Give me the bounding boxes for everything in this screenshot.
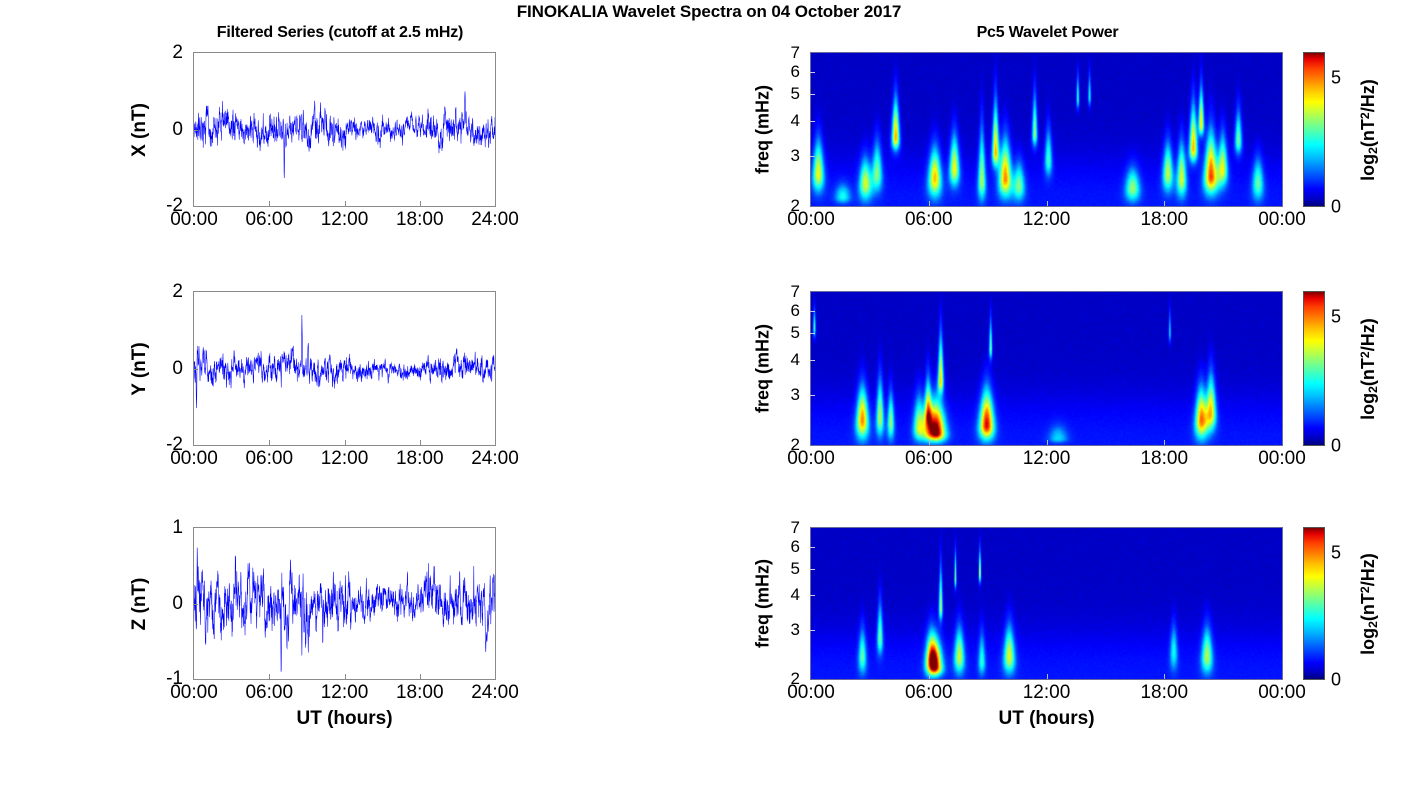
- y-series-ytick: 2: [149, 281, 183, 303]
- z-wavelet-xtick: 06:00: [905, 682, 953, 704]
- figure-suptitle: FINOKALIA Wavelet Spectra on 04 October …: [0, 2, 1418, 22]
- x-series-xtick: 06:00: [245, 209, 293, 231]
- x-wavelet-xtick: 00:00: [1258, 209, 1306, 231]
- x-series-axes: [193, 52, 496, 207]
- colorbar-tick: 0: [1331, 197, 1341, 218]
- y-wavelet-xtick: 18:00: [1140, 448, 1188, 470]
- x-series-ylabel: X (nT): [129, 55, 151, 205]
- y-series-xtickmark: [420, 440, 421, 445]
- y-wavelet-freq-label: freq (mHz): [753, 293, 774, 443]
- z-wavelet-freqtickmark: [810, 547, 815, 548]
- x-wavelet-xtickmark: [1047, 201, 1048, 206]
- x-series-xtick: 18:00: [396, 209, 444, 231]
- y-series-ylabel: Y (nT): [129, 294, 151, 444]
- y-wavelet-xtick: 12:00: [1023, 448, 1071, 470]
- y-wavelet-xtick: 00:00: [787, 448, 835, 470]
- x-wavelet-freqtickmark: [810, 121, 815, 122]
- x-wavelet-xtick: 12:00: [1023, 209, 1071, 231]
- x-series-trace: [194, 53, 495, 206]
- colorbar-x: [1303, 52, 1325, 207]
- y-wavelet-heatmap: [811, 292, 1282, 445]
- z-series-xtick: 06:00: [245, 682, 293, 704]
- x-wavelet-xtickmark: [929, 201, 930, 206]
- colorbar-tick: 5: [1331, 542, 1341, 563]
- z-series-ylabel: Z (nT): [129, 529, 151, 679]
- y-series-trace: [194, 292, 495, 445]
- z-wavelet-xlabel: UT (hours): [998, 708, 1094, 730]
- x-wavelet-xtick: 00:00: [787, 209, 835, 231]
- y-wavelet-xtickmark: [929, 440, 930, 445]
- y-series-ytick: 0: [149, 358, 183, 380]
- z-wavelet-xtick: 12:00: [1023, 682, 1071, 704]
- colorbar-z: [1303, 527, 1325, 680]
- y-wavelet-xtick: 00:00: [1258, 448, 1306, 470]
- y-series-xtick: 24:00: [471, 448, 519, 470]
- y-series-xtick: 18:00: [396, 448, 444, 470]
- z-wavelet-xtick: 18:00: [1140, 682, 1188, 704]
- z-wavelet-xtickmark: [1047, 674, 1048, 679]
- colorbar-tick: 0: [1331, 670, 1341, 691]
- y-wavelet-freqtickmark: [810, 333, 815, 334]
- left-column-title: Filtered Series (cutoff at 2.5 mHz): [160, 24, 520, 42]
- z-wavelet-axes: [810, 527, 1283, 680]
- z-wavelet-xtickmark: [1164, 674, 1165, 679]
- x-series-xtick: 00:00: [170, 209, 218, 231]
- colorbar-tick: 5: [1331, 67, 1341, 88]
- z-series-ytick: 0: [149, 593, 183, 615]
- z-wavelet-xtick: 00:00: [1258, 682, 1306, 704]
- colorbar-label: log2(nT2/Hz): [1358, 294, 1380, 444]
- x-series-ytick: 2: [149, 42, 183, 64]
- x-series-xtick: 24:00: [471, 209, 519, 231]
- z-wavelet-heatmap: [811, 528, 1282, 679]
- z-series-xlabel: UT (hours): [296, 708, 392, 730]
- y-series-ytickmark: [193, 369, 198, 370]
- z-wavelet-freqtickmark: [810, 630, 815, 631]
- x-wavelet-freqtickmark: [810, 156, 815, 157]
- y-series-xtick: 00:00: [170, 448, 218, 470]
- x-series-xtickmark: [345, 201, 346, 206]
- y-series-xtickmark: [345, 440, 346, 445]
- z-series-xtickmark: [345, 674, 346, 679]
- z-wavelet-xtickmark: [929, 674, 930, 679]
- z-series-xtick: 18:00: [396, 682, 444, 704]
- y-series-xtick: 12:00: [321, 448, 369, 470]
- y-wavelet-axes: [810, 291, 1283, 446]
- colorbar-tick: 0: [1331, 436, 1341, 457]
- figure-canvas: FINOKALIA Wavelet Spectra on 04 October …: [0, 0, 1418, 788]
- y-series-xtick: 06:00: [245, 448, 293, 470]
- x-series-xtick: 12:00: [321, 209, 369, 231]
- x-series-xtickmark: [269, 201, 270, 206]
- z-series-axes: [193, 527, 496, 680]
- y-wavelet-freqtickmark: [810, 360, 815, 361]
- y-wavelet-xtick: 06:00: [905, 448, 953, 470]
- colorbar-label: log2(nT2/Hz): [1358, 529, 1380, 679]
- z-series-trace: [194, 528, 495, 679]
- x-series-ytick: 0: [149, 119, 183, 141]
- z-series-xtick: 00:00: [170, 682, 218, 704]
- y-series-axes: [193, 291, 496, 446]
- x-wavelet-xtick: 18:00: [1140, 209, 1188, 231]
- y-wavelet-freqtickmark: [810, 311, 815, 312]
- x-wavelet-heatmap: [811, 53, 1282, 206]
- z-series-ytickmark: [193, 604, 198, 605]
- z-wavelet-freqtickmark: [810, 569, 815, 570]
- x-wavelet-freqtickmark: [810, 72, 815, 73]
- x-wavelet-freq-label: freq (mHz): [753, 54, 774, 204]
- z-wavelet-xtick: 00:00: [787, 682, 835, 704]
- y-wavelet-xtickmark: [1047, 440, 1048, 445]
- x-series-ytickmark: [193, 130, 198, 131]
- colorbar-tick: 5: [1331, 306, 1341, 327]
- x-wavelet-freqtickmark: [810, 94, 815, 95]
- y-wavelet-freqtickmark: [810, 395, 815, 396]
- y-series-xtickmark: [269, 440, 270, 445]
- colorbar-label: log2(nT2/Hz): [1358, 55, 1380, 205]
- z-series-xtickmark: [420, 674, 421, 679]
- x-wavelet-axes: [810, 52, 1283, 207]
- right-column-title: Pc5 Wavelet Power: [810, 24, 1285, 42]
- colorbar-y: [1303, 291, 1325, 446]
- y-wavelet-xtickmark: [1164, 440, 1165, 445]
- z-series-ytick: 1: [149, 517, 183, 539]
- z-wavelet-freqtickmark: [810, 595, 815, 596]
- x-wavelet-xtick: 06:00: [905, 209, 953, 231]
- x-wavelet-xtickmark: [1164, 201, 1165, 206]
- z-wavelet-freq-label: freq (mHz): [753, 528, 774, 678]
- z-series-xtickmark: [269, 674, 270, 679]
- z-series-xtick: 24:00: [471, 682, 519, 704]
- x-series-xtickmark: [420, 201, 421, 206]
- z-series-xtick: 12:00: [321, 682, 369, 704]
